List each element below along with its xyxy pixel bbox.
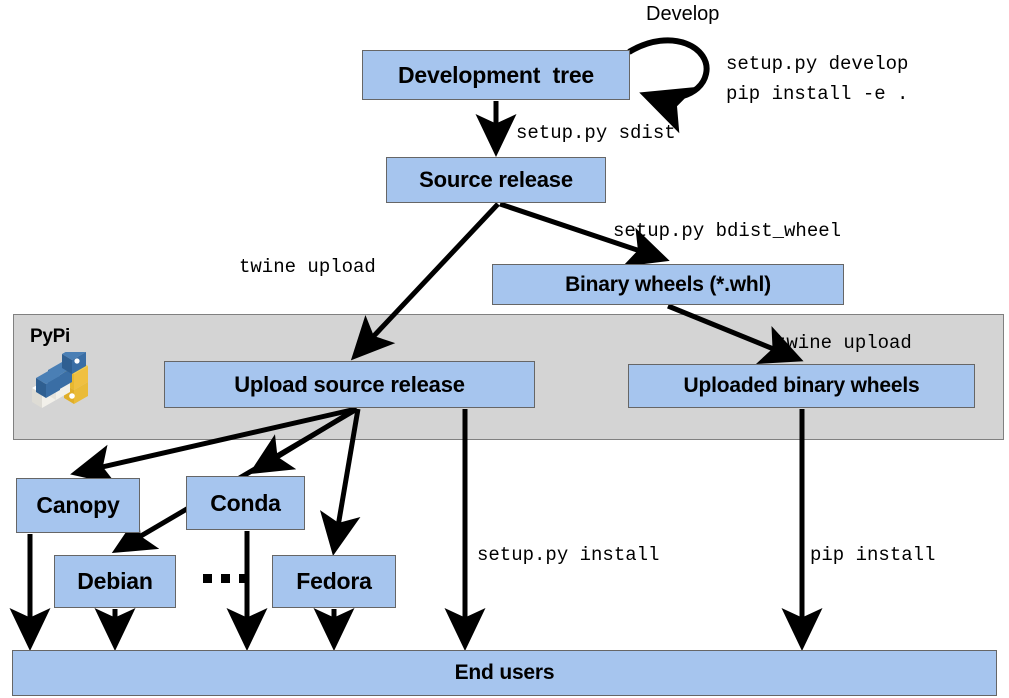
edge-label-develop: Develop [646, 3, 719, 26]
node-upload-source-release[interactable]: Upload source release [164, 361, 535, 408]
edge-label-setup-py-sdist: setup.py sdist [516, 121, 676, 147]
node-canopy[interactable]: Canopy [16, 478, 140, 533]
edge-label-setup-py-develop: setup.py develop [726, 52, 908, 78]
more-distros-ellipsis [203, 574, 248, 583]
node-development-tree[interactable]: Development tree [362, 50, 630, 100]
ellipsis-dot [221, 574, 230, 583]
node-source-release[interactable]: Source release [386, 157, 606, 203]
node-debian[interactable]: Debian [54, 555, 176, 608]
edge-label-pip-install-editable: pip install -e . [726, 82, 908, 108]
edge-label-setup-py-bdist-wheel: setup.py bdist_wheel [613, 219, 841, 245]
diagram-canvas: PyPi [0, 0, 1009, 698]
edge-label-twine-upload-source: twine upload [239, 255, 376, 281]
pypi-region-label: PyPi [30, 326, 70, 348]
pypi-python-blocks-logo [28, 352, 92, 414]
ellipsis-dot [239, 574, 248, 583]
edge-develop-self-loop [629, 40, 707, 98]
edge-label-pip-install: pip install [810, 543, 935, 569]
node-conda[interactable]: Conda [186, 476, 305, 530]
edge-label-setup-py-install: setup.py install [477, 543, 659, 569]
node-fedora[interactable]: Fedora [272, 555, 396, 608]
node-binary-wheels[interactable]: Binary wheels (*.whl) [492, 264, 844, 305]
edge-label-twine-upload-wheels: twine upload [775, 331, 912, 357]
node-end-users[interactable]: End users [12, 650, 997, 696]
node-uploaded-binary-wheels[interactable]: Uploaded binary wheels [628, 364, 975, 408]
ellipsis-dot [203, 574, 212, 583]
